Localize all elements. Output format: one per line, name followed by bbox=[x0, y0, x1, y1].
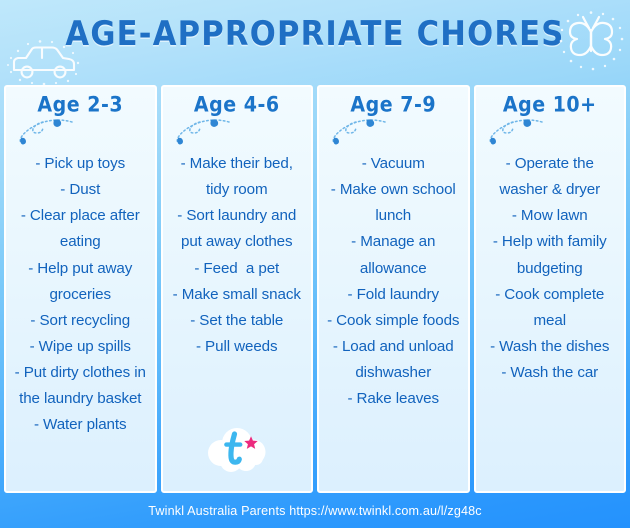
chore-list: - Pick up toys - Dust - Clear place afte… bbox=[11, 151, 150, 439]
list-item: - Fold laundry bbox=[325, 282, 462, 308]
list-item: - Help with family budgeting bbox=[482, 229, 619, 281]
bird-swirl-icon bbox=[326, 117, 392, 149]
list-item: - Clear place after eating bbox=[12, 203, 149, 255]
list-item: - Cook simple foods bbox=[325, 308, 462, 334]
list-item: - Water plants bbox=[12, 412, 149, 438]
chore-columns: Age 2-3 - Pick up toys - Dust - Clear pl… bbox=[4, 85, 626, 493]
chore-list: - Operate the washer & dryer - Mow lawn … bbox=[481, 151, 620, 386]
list-item: - Wipe up spills bbox=[12, 334, 149, 360]
logo-container bbox=[168, 423, 307, 487]
poster-header: AGE-APPROPRIATE CHORES bbox=[0, 0, 630, 85]
list-item: - Operate the washer & dryer bbox=[482, 151, 619, 203]
list-item: - Sort laundry and put away clothes bbox=[169, 203, 306, 255]
poster-canvas: AGE-APPROPRIATE CHORES bbox=[0, 0, 630, 528]
list-item: - Make their bed, tidy room bbox=[169, 151, 306, 203]
list-item: - Wash the car bbox=[482, 360, 619, 386]
list-item: - Load and unload dishwasher bbox=[325, 334, 462, 386]
list-item: - Cook complete meal bbox=[482, 282, 619, 334]
list-item: - Make small snack bbox=[169, 282, 306, 308]
bird-swirl-icon bbox=[483, 117, 549, 149]
list-item: - Rake leaves bbox=[325, 386, 462, 412]
chore-column-age-7-9: Age 7-9 - Vacuum - Make own school lunch… bbox=[317, 85, 470, 493]
poster-footer: Twinkl Australia Parents https://www.twi… bbox=[0, 493, 630, 528]
bird-swirl-icon bbox=[170, 117, 236, 149]
list-item: - Make own school lunch bbox=[325, 177, 462, 229]
column-title: Age 7-9 bbox=[324, 93, 463, 117]
list-item: - Dust bbox=[12, 177, 149, 203]
list-item: - Feed a pet bbox=[169, 256, 306, 282]
list-item: - Wash the dishes bbox=[482, 334, 619, 360]
list-item: - Vacuum bbox=[325, 151, 462, 177]
list-item: - Manage an allowance bbox=[325, 229, 462, 281]
chore-column-age-2-3: Age 2-3 - Pick up toys - Dust - Clear pl… bbox=[4, 85, 157, 493]
chore-column-age-4-6: Age 4-6 - Make their bed, tidy room - So… bbox=[161, 85, 314, 493]
list-item: - Set the table bbox=[169, 308, 306, 334]
column-title: Age 2-3 bbox=[11, 93, 150, 117]
twinkl-logo bbox=[201, 423, 273, 473]
chore-list: - Vacuum - Make own school lunch - Manag… bbox=[324, 151, 463, 412]
column-title: Age 4-6 bbox=[168, 93, 307, 117]
column-title: Age 10+ bbox=[481, 93, 620, 117]
list-item: - Pick up toys bbox=[12, 151, 149, 177]
bird-swirl-icon bbox=[13, 117, 79, 149]
list-item: - Mow lawn bbox=[482, 203, 619, 229]
list-item: - Sort recycling bbox=[12, 308, 149, 334]
page-title: AGE-APPROPRIATE CHORES bbox=[0, 15, 630, 54]
chore-column-age-10-plus: Age 10+ - Operate the washer & dryer - M… bbox=[474, 85, 627, 493]
list-item: - Pull weeds bbox=[169, 334, 306, 360]
footer-attribution-text: Twinkl Australia Parents https://www.twi… bbox=[148, 504, 481, 518]
list-item: - Help put away groceries bbox=[12, 256, 149, 308]
chore-list: - Make their bed, tidy room - Sort laund… bbox=[168, 151, 307, 360]
list-item: - Put dirty clothes in the laundry baske… bbox=[12, 360, 149, 412]
